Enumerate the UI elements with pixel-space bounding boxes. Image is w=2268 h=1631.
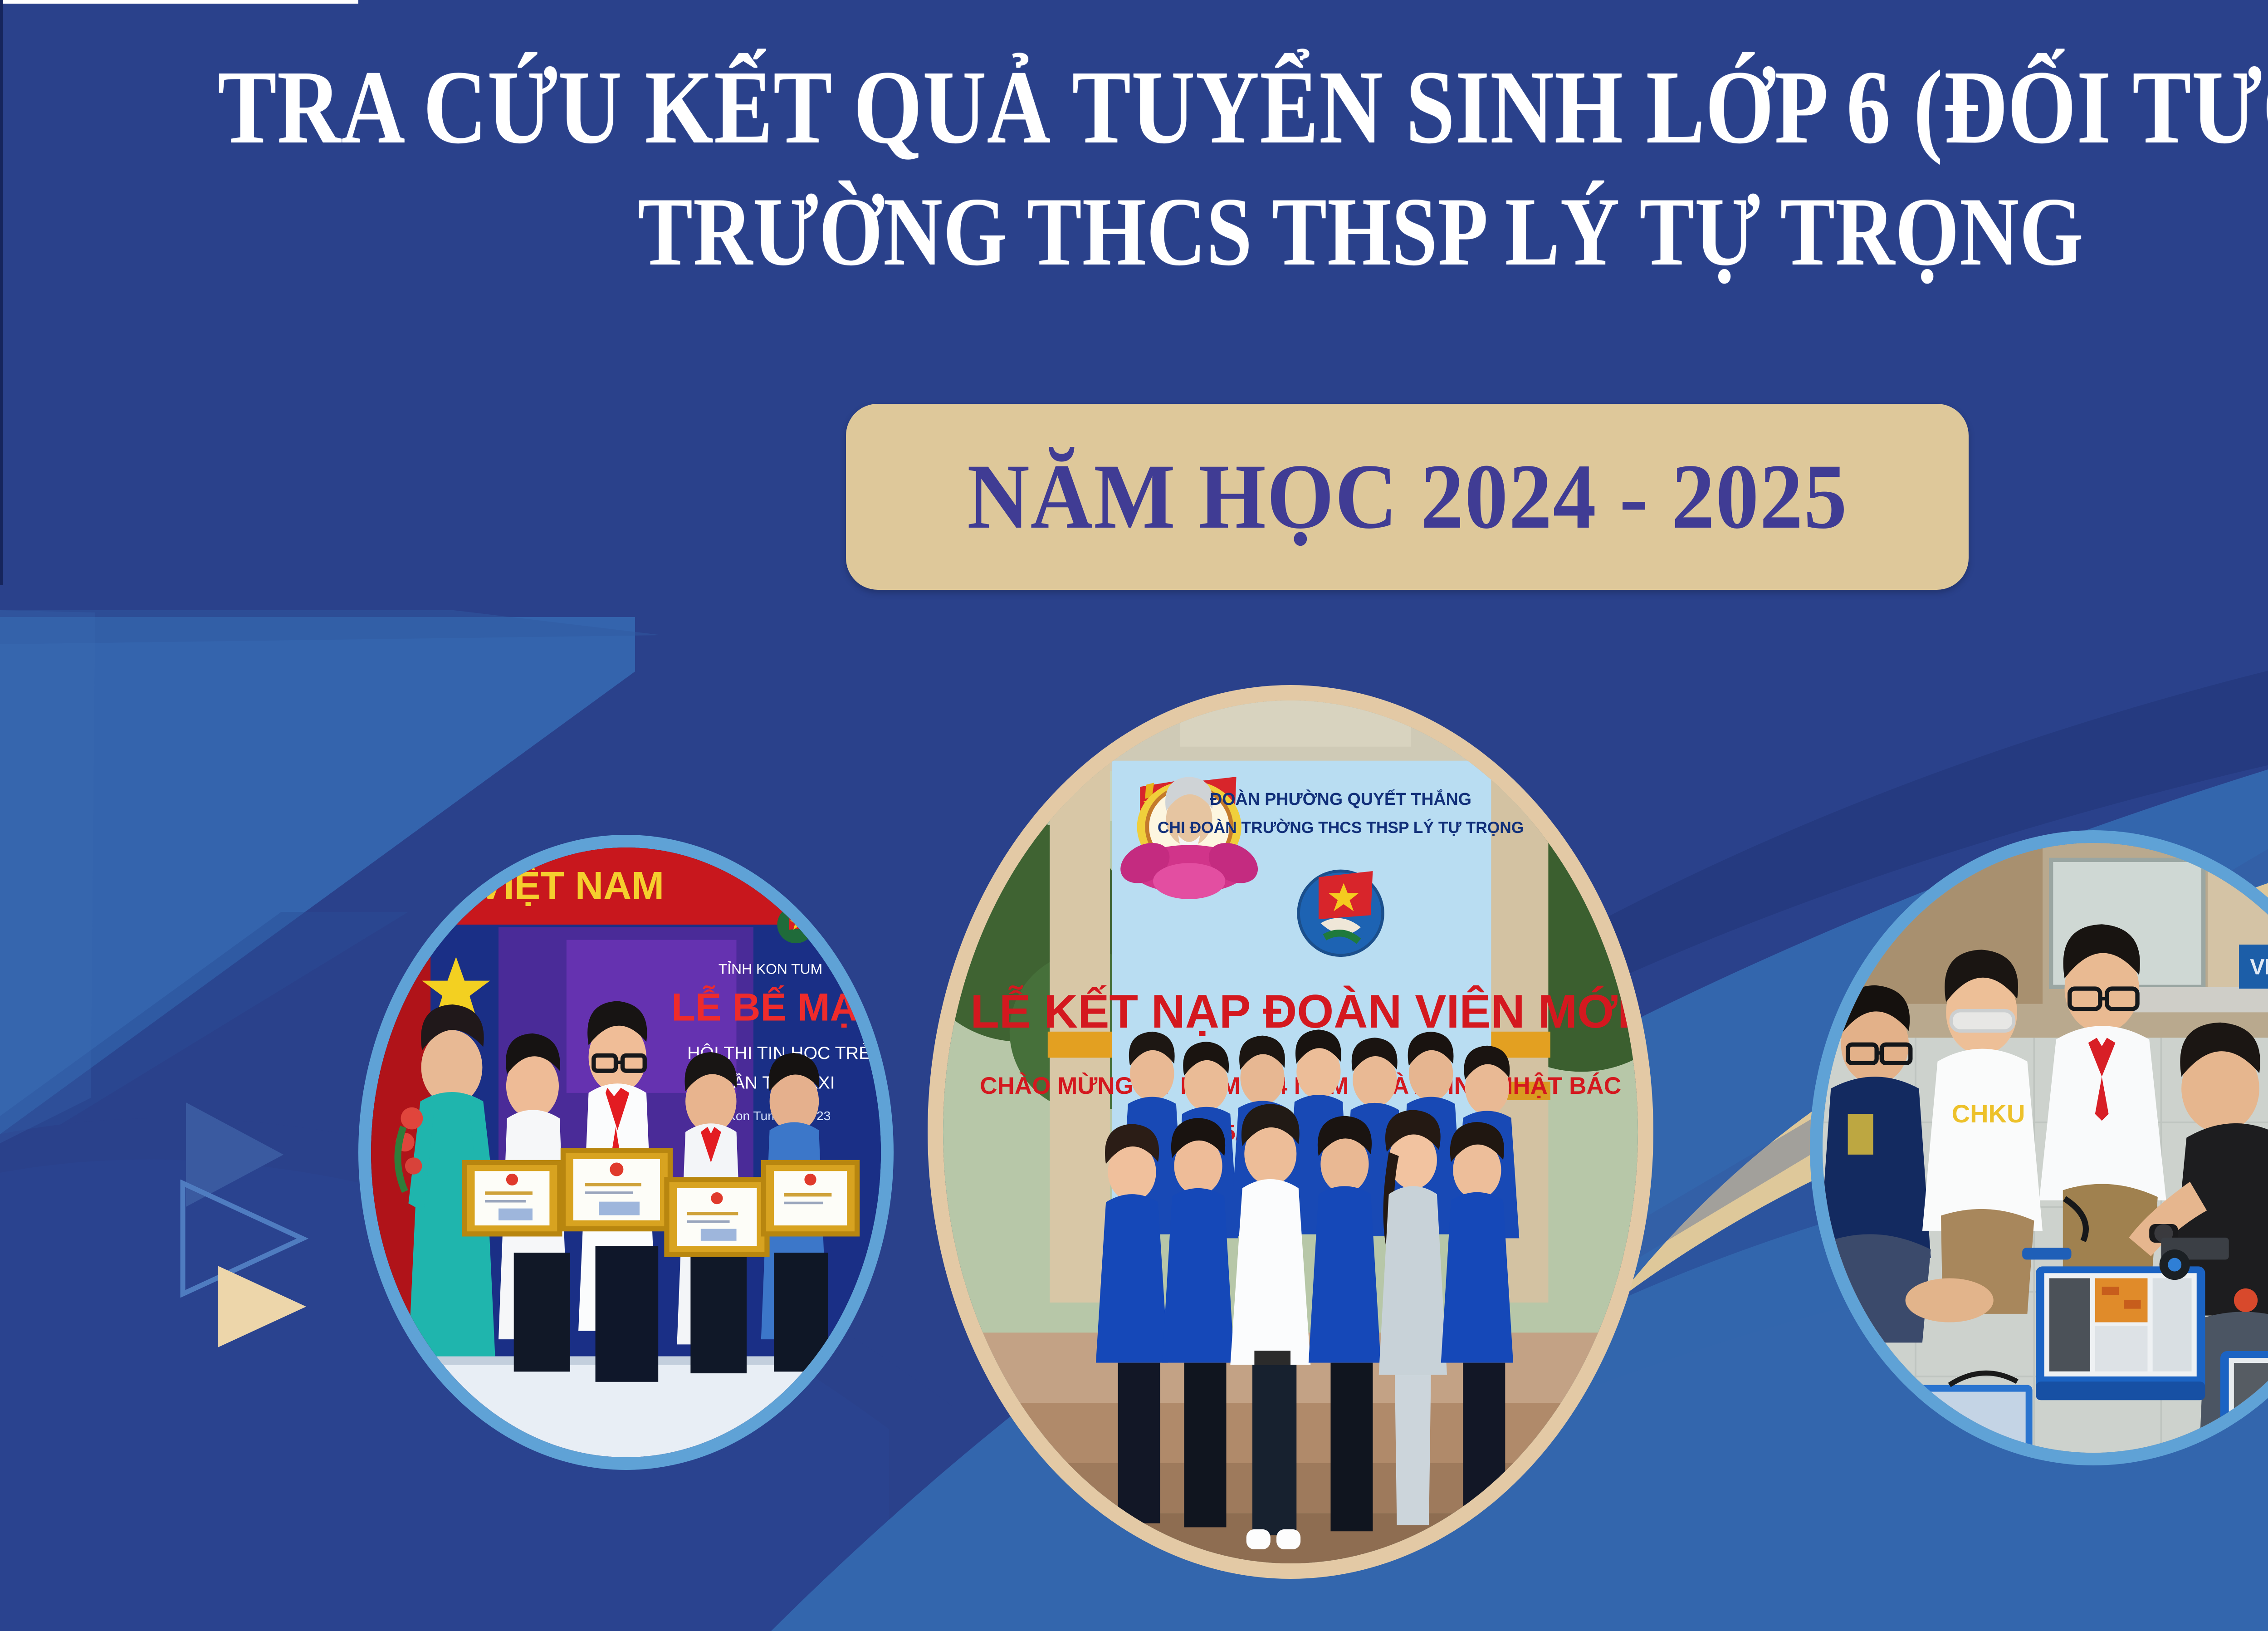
top-edge-notch bbox=[0, 0, 358, 4]
triangle-left-beige bbox=[218, 1266, 306, 1347]
photo-left: VIỆT NAM TỈNH KON TUM LỄ BẾ MẠC HỘI THI … bbox=[358, 835, 894, 1470]
page-title: TRA CỨU KẾT QUẢ TUYỂN SINH LỚP 6 (ĐỐI TƯ… bbox=[0, 45, 2268, 290]
svg-text:VIỆT NAM: VIỆT NAM bbox=[477, 864, 664, 908]
svg-text:VEX: VEX bbox=[2250, 955, 2268, 979]
title-line-2: TRƯỜNG THCS THSP LÝ TỰ TRỌNG bbox=[218, 174, 2268, 290]
svg-text:LỄ KẾT NẠP ĐOÀN VIÊN MỚI: LỄ KẾT NẠP ĐOÀN VIÊN MỚI bbox=[970, 985, 1630, 1038]
svg-text:CHI ĐOÀN TRƯỜNG THCS THSP LÝ T: CHI ĐOÀN TRƯỜNG THCS THSP LÝ TỰ TRỌNG bbox=[1158, 818, 1524, 837]
year-banner-label: NĂM HỌC 2024 - 2025 bbox=[967, 443, 1848, 550]
photo-center-image: ĐOÀN PHƯỜNG QUYẾT THẮNG CHI ĐOÀN TRƯỜNG … bbox=[943, 700, 1638, 1563]
svg-text:ĐOÀN PHƯỜNG QUYẾT THẮNG: ĐOÀN PHƯỜNG QUYẾT THẮNG bbox=[1210, 789, 1471, 808]
photo-left-image: VIỆT NAM TỈNH KON TUM LỄ BẾ MẠC HỘI THI … bbox=[371, 847, 881, 1457]
svg-text:LỄ BẾ MẠC: LỄ BẾ MẠC bbox=[671, 986, 881, 1029]
photo-right-image: VEX bbox=[1823, 843, 2268, 1453]
year-banner: NĂM HỌC 2024 - 2025 bbox=[846, 404, 1969, 590]
svg-text:CHKU: CHKU bbox=[1952, 1099, 2025, 1128]
poster-root: TRA CỨU KẾT QUẢ TUYỂN SINH LỚP 6 (ĐỐI TƯ… bbox=[0, 0, 2268, 1631]
photo-center: ĐOÀN PHƯỜNG QUYẾT THẮNG CHI ĐOÀN TRƯỜNG … bbox=[928, 685, 1653, 1579]
photo-right: VEX bbox=[1810, 830, 2268, 1465]
svg-text:TỈNH KON TUM: TỈNH KON TUM bbox=[719, 961, 822, 977]
title-line-1: TRA CỨU KẾT QUẢ TUYỂN SINH LỚP 6 (ĐỐI TƯ… bbox=[218, 45, 2268, 170]
